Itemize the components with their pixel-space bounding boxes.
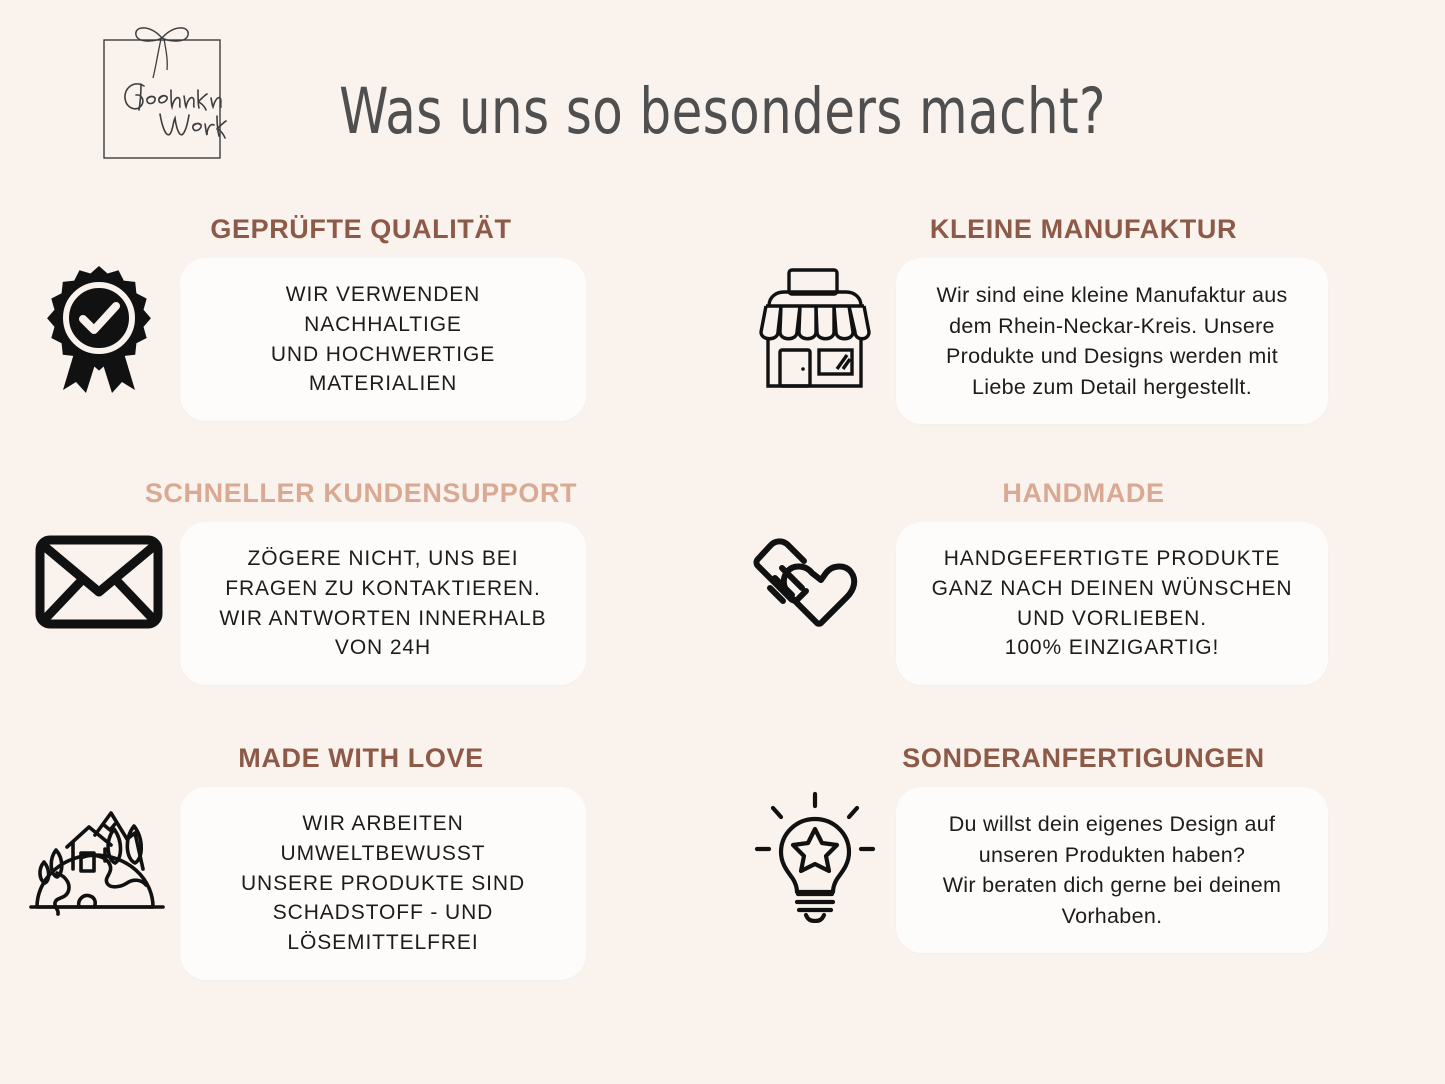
feature-sonderanfertigungen: SONDERANFERTIGUNGEN Du will xyxy=(722,725,1445,990)
feature-heading-handmade: HANDMADE xyxy=(722,478,1445,509)
icon-box-award xyxy=(18,258,180,394)
feature-text-kleine-manufaktur: Wir sind eine kleine Manufaktur aus dem … xyxy=(936,280,1287,402)
icon-box-eco-globe xyxy=(18,787,180,919)
feature-body-sonderanfertigungen: Du willst dein eigenes Design auf unsere… xyxy=(722,787,1445,953)
feature-text-sonderanfertigungen: Du willst dein eigenes Design auf unsere… xyxy=(943,809,1282,931)
hand-holding-heart-icon xyxy=(750,526,880,644)
feature-text-schneller-kundensupport: ZÖGERE NICHT, UNS BEI FRAGEN ZU KONTAKTI… xyxy=(219,544,546,663)
feature-schneller-kundensupport: SCHNELLER KUNDENSUPPORT ZÖGERE NICHT, UN… xyxy=(0,460,722,725)
feature-made-with-love: MADE WITH LOVE xyxy=(0,725,722,990)
feature-heading-sonderanfertigungen: SONDERANFERTIGUNGEN xyxy=(722,743,1445,774)
feature-card-made-with-love: WIR ARBEITEN UMWELTBEWUSST UNSERE PRODUK… xyxy=(180,787,586,980)
eco-globe-house-trees-icon xyxy=(23,791,175,919)
feature-gepruefte-qualitaet: GEPRÜFTE QUALITÄT WIR VERWENDEN NACHHALT… xyxy=(0,196,722,460)
page-title: Was uns so besonders macht? xyxy=(87,75,1359,148)
feature-heading-gepruefte-qualitaet: GEPRÜFTE QUALITÄT xyxy=(0,214,722,245)
icon-box-lightbulb xyxy=(734,787,896,923)
feature-card-kleine-manufaktur: Wir sind eine kleine Manufaktur aus dem … xyxy=(896,258,1328,424)
feature-text-handmade: HANDGEFERTIGTE PRODUKTE GANZ NACH DEINEN… xyxy=(932,544,1293,663)
award-ribbon-check-icon xyxy=(40,262,158,394)
icon-box-hand-heart xyxy=(734,522,896,644)
feature-body-gepruefte-qualitaet: WIR VERWENDEN NACHHALTIGE UND HOCHWERTIG… xyxy=(0,258,740,421)
feature-card-schneller-kundensupport: ZÖGERE NICHT, UNS BEI FRAGEN ZU KONTAKTI… xyxy=(180,522,586,685)
icon-box-envelope xyxy=(18,522,180,636)
feature-body-handmade: HANDGEFERTIGTE PRODUKTE GANZ NACH DEINEN… xyxy=(722,522,1445,685)
feature-card-sonderanfertigungen: Du willst dein eigenes Design auf unsere… xyxy=(896,787,1328,953)
feature-text-made-with-love: WIR ARBEITEN UMWELTBEWUSST UNSERE PRODUK… xyxy=(206,809,560,958)
lightbulb-star-idea-icon xyxy=(753,791,877,923)
feature-handmade: HANDMADE HANDGEFERTIGTE PRODUKTE GANZ NA… xyxy=(722,460,1445,725)
feature-kleine-manufaktur: KLEINE MANUFAKTUR xyxy=(722,196,1445,460)
envelope-icon xyxy=(32,526,166,636)
feature-heading-schneller-kundensupport: SCHNELLER KUNDENSUPPORT xyxy=(0,478,722,509)
icon-box-storefront xyxy=(734,258,896,398)
feature-body-made-with-love: WIR ARBEITEN UMWELTBEWUSST UNSERE PRODUK… xyxy=(0,787,740,980)
feature-body-schneller-kundensupport: ZÖGERE NICHT, UNS BEI FRAGEN ZU KONTAKTI… xyxy=(0,522,740,685)
feature-heading-kleine-manufaktur: KLEINE MANUFAKTUR xyxy=(722,214,1445,245)
storefront-icon xyxy=(751,262,879,398)
feature-body-kleine-manufaktur: Wir sind eine kleine Manufaktur aus dem … xyxy=(722,258,1445,424)
feature-text-gepruefte-qualitaet: WIR VERWENDEN NACHHALTIGE UND HOCHWERTIG… xyxy=(206,280,560,399)
feature-card-gepruefte-qualitaet: WIR VERWENDEN NACHHALTIGE UND HOCHWERTIG… xyxy=(180,258,586,421)
feature-heading-made-with-love: MADE WITH LOVE xyxy=(0,743,722,774)
features-grid: GEPRÜFTE QUALITÄT WIR VERWENDEN NACHHALT… xyxy=(0,196,1445,990)
feature-card-handmade: HANDGEFERTIGTE PRODUKTE GANZ NACH DEINEN… xyxy=(896,522,1328,685)
